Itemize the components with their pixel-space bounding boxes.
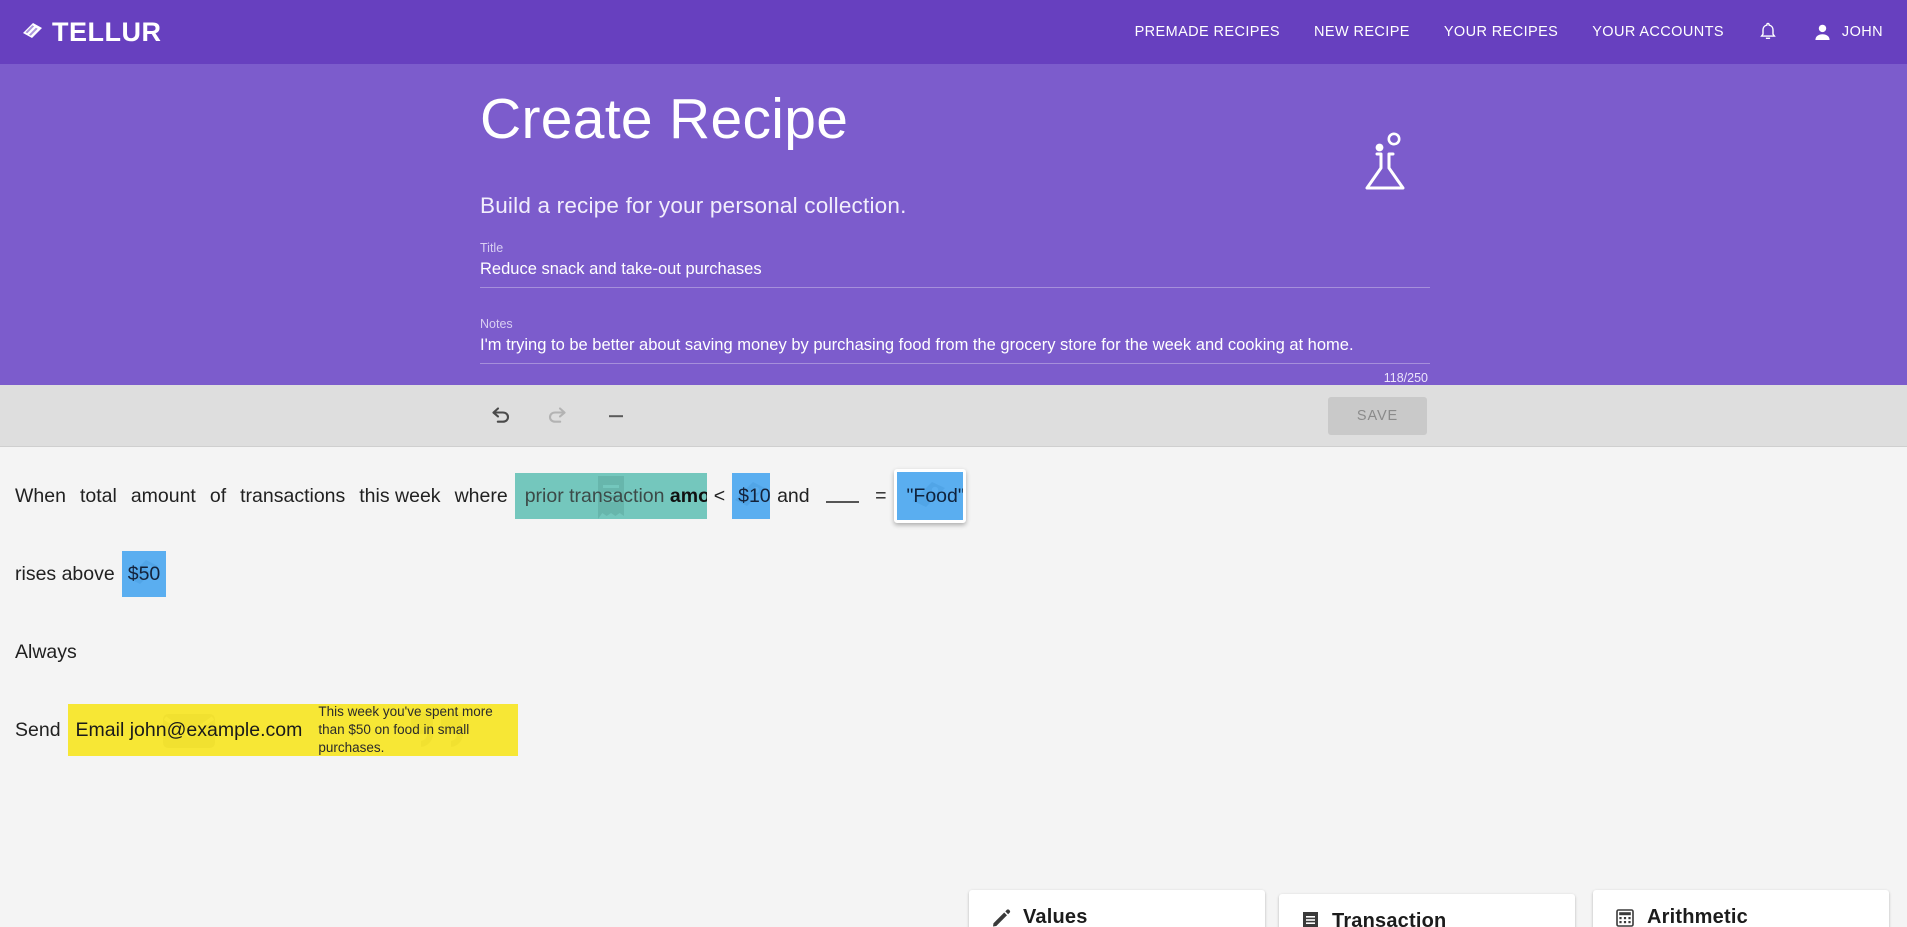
chip-email-label: Email john@example.com xyxy=(76,719,303,742)
person-icon xyxy=(1812,22,1833,43)
arithmetic-panel: Arithmetic _ + _ _ – _ _ × _ _ ÷ _ xyxy=(1593,890,1889,927)
word-of: of xyxy=(203,485,233,508)
notes-char-counter: 118/250 xyxy=(480,371,1430,385)
brand-name: TELLUR xyxy=(52,17,161,48)
notes-field-value[interactable]: I'm trying to be better about saving mon… xyxy=(480,336,1430,364)
empty-slot[interactable] xyxy=(826,489,860,503)
recipe-canvas[interactable]: When total amount of transactions this w… xyxy=(0,447,966,759)
chip-currency-10[interactable]: $10 xyxy=(732,473,770,519)
notes-field-label: Notes xyxy=(480,317,1430,331)
operator-equals[interactable]: = xyxy=(868,485,893,508)
nav-new-recipe[interactable]: NEW RECIPE xyxy=(1314,24,1410,40)
receipt-icon xyxy=(1301,911,1320,927)
transaction-panel: Transaction amount PRIOR check number PR… xyxy=(1279,894,1575,927)
flask-icon xyxy=(1357,130,1413,192)
chip-message-text[interactable]: This week you've spent more than $50 on … xyxy=(310,704,518,756)
chip-message-label: This week you've spent more than $50 on … xyxy=(318,704,510,756)
word-send: Send xyxy=(8,719,68,742)
arithmetic-panel-title: Arithmetic xyxy=(1647,906,1748,927)
page-subtitle: Build a recipe for your personal collect… xyxy=(480,193,1907,219)
minus-icon[interactable] xyxy=(601,401,631,431)
pencil-icon xyxy=(991,908,1011,927)
word-transactions[interactable]: transactions xyxy=(233,485,352,508)
word-where: where xyxy=(448,485,515,508)
hero-section: Create Recipe Build a recipe for your pe… xyxy=(0,64,1907,385)
chip-email-action[interactable]: Email john@example.com xyxy=(68,704,311,756)
save-button[interactable]: SAVE xyxy=(1328,397,1427,435)
notes-field[interactable]: Notes I'm trying to be better about savi… xyxy=(480,317,1430,385)
word-when: When xyxy=(8,485,73,508)
chip-text-food-label: "Food" xyxy=(907,485,965,508)
recipe-line-3: Always xyxy=(0,623,966,681)
gem-icon xyxy=(20,19,46,45)
chip-text-food-selected[interactable]: "Food" xyxy=(894,469,967,523)
transaction-panel-title: Transaction xyxy=(1332,910,1446,927)
word-total[interactable]: total xyxy=(73,485,124,508)
undo-icon[interactable] xyxy=(485,401,515,431)
page-title: Create Recipe xyxy=(480,64,1907,151)
chip-currency-50[interactable]: $50 xyxy=(122,551,167,597)
recipe-line-1: When total amount of transactions this w… xyxy=(0,467,966,525)
top-navbar: TELLUR PREMADE RECIPES NEW RECIPE YOUR R… xyxy=(0,0,1907,64)
brand-logo[interactable]: TELLUR xyxy=(20,17,161,48)
title-field-value[interactable]: Reduce snack and take-out purchases xyxy=(480,260,1430,288)
word-this-week[interactable]: this week xyxy=(352,485,447,508)
bell-icon[interactable] xyxy=(1758,21,1778,43)
chip-prior-field: amount xyxy=(670,485,707,507)
word-amount[interactable]: amount xyxy=(124,485,203,508)
editor-toolbar: SAVE xyxy=(0,385,1907,447)
word-and: and xyxy=(770,485,817,508)
recipe-line-2: rises above $50 xyxy=(0,545,966,603)
chip-prior-prefix: prior transaction xyxy=(525,485,670,507)
operator-less-than[interactable]: < xyxy=(707,485,732,508)
redo-icon[interactable] xyxy=(543,401,573,431)
chip-currency-10-label: $10 xyxy=(738,485,770,508)
user-name: JOHN xyxy=(1842,24,1883,40)
values-panel-title: Values xyxy=(1023,906,1088,927)
nav-your-accounts[interactable]: YOUR ACCOUNTS xyxy=(1592,24,1724,40)
values-panel: Values $ % % Text xyxy=(969,890,1265,927)
word-always[interactable]: Always xyxy=(8,641,84,664)
main-area: When total amount of transactions this w… xyxy=(0,447,1907,927)
nav-premade-recipes[interactable]: PREMADE RECIPES xyxy=(1135,24,1280,40)
recipe-line-4: Send Email john@example.com T xyxy=(0,701,966,759)
calculator-icon xyxy=(1615,908,1635,927)
chip-prior-transaction-amount[interactable]: prior transaction amount xyxy=(515,473,707,519)
title-field[interactable]: Title Reduce snack and take-out purchase… xyxy=(480,241,1430,288)
word-rises-above[interactable]: rises above xyxy=(8,563,122,586)
chip-currency-50-label: $50 xyxy=(128,563,161,586)
nav-links: PREMADE RECIPES NEW RECIPE YOUR RECIPES … xyxy=(1135,21,1883,43)
nav-your-recipes[interactable]: YOUR RECIPES xyxy=(1444,24,1558,40)
title-field-label: Title xyxy=(480,241,1430,255)
user-menu[interactable]: JOHN xyxy=(1812,22,1883,43)
